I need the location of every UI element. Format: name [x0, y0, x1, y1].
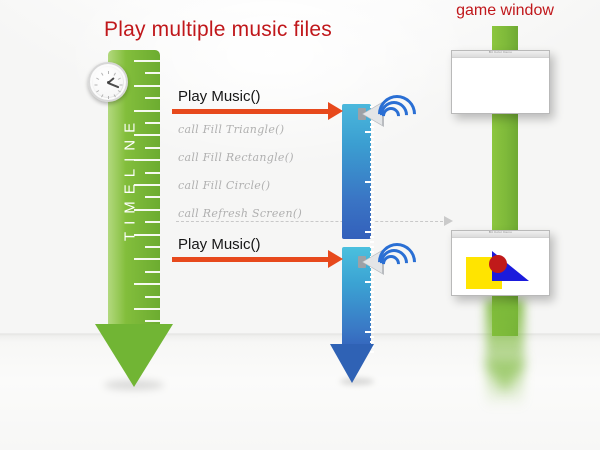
call-label: call Fill Triangle() [178, 123, 284, 136]
ruler-tick [145, 172, 160, 174]
audio-tick [370, 336, 374, 338]
ruler-tick [145, 122, 160, 124]
clock-hour-mark [101, 73, 103, 76]
sound-wave-large [370, 235, 424, 289]
play-music-label: Play Music() [178, 88, 261, 105]
clock-hour-mark [96, 90, 99, 92]
audio-tick [365, 181, 374, 183]
audio-tick [370, 291, 374, 293]
timeline-arrowhead [95, 324, 173, 387]
play-music-label: Play Music() [178, 236, 261, 253]
clock-hour-mark [101, 94, 103, 97]
audio-tick [365, 331, 374, 333]
ruler-tick [145, 221, 160, 223]
audio-tick [370, 146, 374, 148]
audio-tick [370, 321, 374, 323]
clock-hour-mark [95, 85, 98, 86]
audio-tick [370, 341, 374, 343]
clock-hour-mark [108, 71, 109, 74]
audio-tick [370, 296, 374, 298]
audio-tick [370, 136, 374, 138]
call-label: call Refresh Screen() [178, 207, 302, 220]
clock-hour-mark [118, 78, 121, 80]
timeline-arrow: TIMELINE [102, 50, 166, 400]
clock-hour-mark [96, 78, 99, 80]
ruler-tick [145, 147, 160, 149]
audio-tick [370, 236, 374, 238]
red-circle-shape [489, 255, 507, 273]
ruler-tick [145, 196, 160, 198]
audio-tick [370, 166, 374, 168]
audio-tick [370, 151, 374, 153]
audio-tick [370, 161, 374, 163]
ruler-tick [145, 320, 160, 322]
ruler-tick [145, 296, 160, 298]
wall-clock-icon [88, 62, 128, 102]
clock-hour-mark [118, 90, 121, 92]
audio-tick [370, 206, 374, 208]
audio-arrowhead [330, 344, 374, 383]
audio-tick [370, 216, 374, 218]
audio-tick [370, 326, 374, 328]
clock-center-pin [107, 81, 110, 84]
audio-tick [370, 191, 374, 193]
ruler-tick [145, 271, 160, 273]
ruler-tick [145, 246, 160, 248]
play-music-arrowhead-1 [328, 102, 343, 120]
speaker-icon-bottom [358, 240, 414, 284]
call-label: call Fill Circle() [178, 179, 270, 192]
window-titlebar: Bit Color Demo [452, 51, 549, 58]
ruler-tick [145, 72, 160, 74]
audio-tick [370, 226, 374, 228]
clock-face [93, 67, 123, 97]
audio-tick [370, 311, 374, 313]
game-window-label: game window [452, 2, 558, 20]
clock-hour-mark [114, 94, 116, 97]
diagram-canvas: game window Bit Color Demo Bit Color Dem… [0, 0, 600, 450]
audio-tick [370, 211, 374, 213]
refresh-screen-arrowhead [444, 216, 453, 226]
play-music-arrowhead-2 [328, 250, 343, 268]
audio-tick [370, 156, 374, 158]
play-music-arrow-1 [172, 109, 330, 114]
audio-tick [370, 301, 374, 303]
audio-tick [365, 231, 374, 233]
green-flow-arrowhead [484, 360, 526, 394]
clock-hour-mark [114, 73, 116, 76]
window-title-text: Bit Color Demo [452, 230, 549, 234]
game-window-drawn[interactable]: Bit Color Demo [451, 230, 550, 296]
audio-tick [370, 186, 374, 188]
audio-tick [370, 286, 374, 288]
audio-tick [370, 176, 374, 178]
window-title-text: Bit Color Demo [452, 50, 549, 54]
page-title: Play multiple music files [104, 18, 332, 42]
audio-tick [370, 141, 374, 143]
ruler-tick [145, 97, 160, 99]
refresh-screen-dashed-arrow [176, 221, 448, 222]
timeline-label: TIMELINE [122, 59, 139, 299]
audio-tick [370, 201, 374, 203]
audio-tick [370, 316, 374, 318]
window-canvas-empty [452, 58, 549, 113]
audio-tick [370, 171, 374, 173]
game-window-empty[interactable]: Bit Color Demo [451, 50, 550, 114]
audio-tick [370, 221, 374, 223]
clock-hour-mark [108, 96, 109, 99]
window-titlebar: Bit Color Demo [452, 231, 549, 238]
call-label: call Fill Rectangle() [178, 151, 294, 164]
audio-tick [370, 306, 374, 308]
window-canvas-drawn [452, 238, 549, 295]
clock-hour-mark [120, 85, 123, 86]
audio-ruler-ticks [364, 106, 374, 352]
audio-tick [370, 196, 374, 198]
play-music-arrow-2 [172, 257, 330, 262]
speaker-icon-top [358, 92, 414, 136]
ruler-tick [134, 308, 160, 310]
